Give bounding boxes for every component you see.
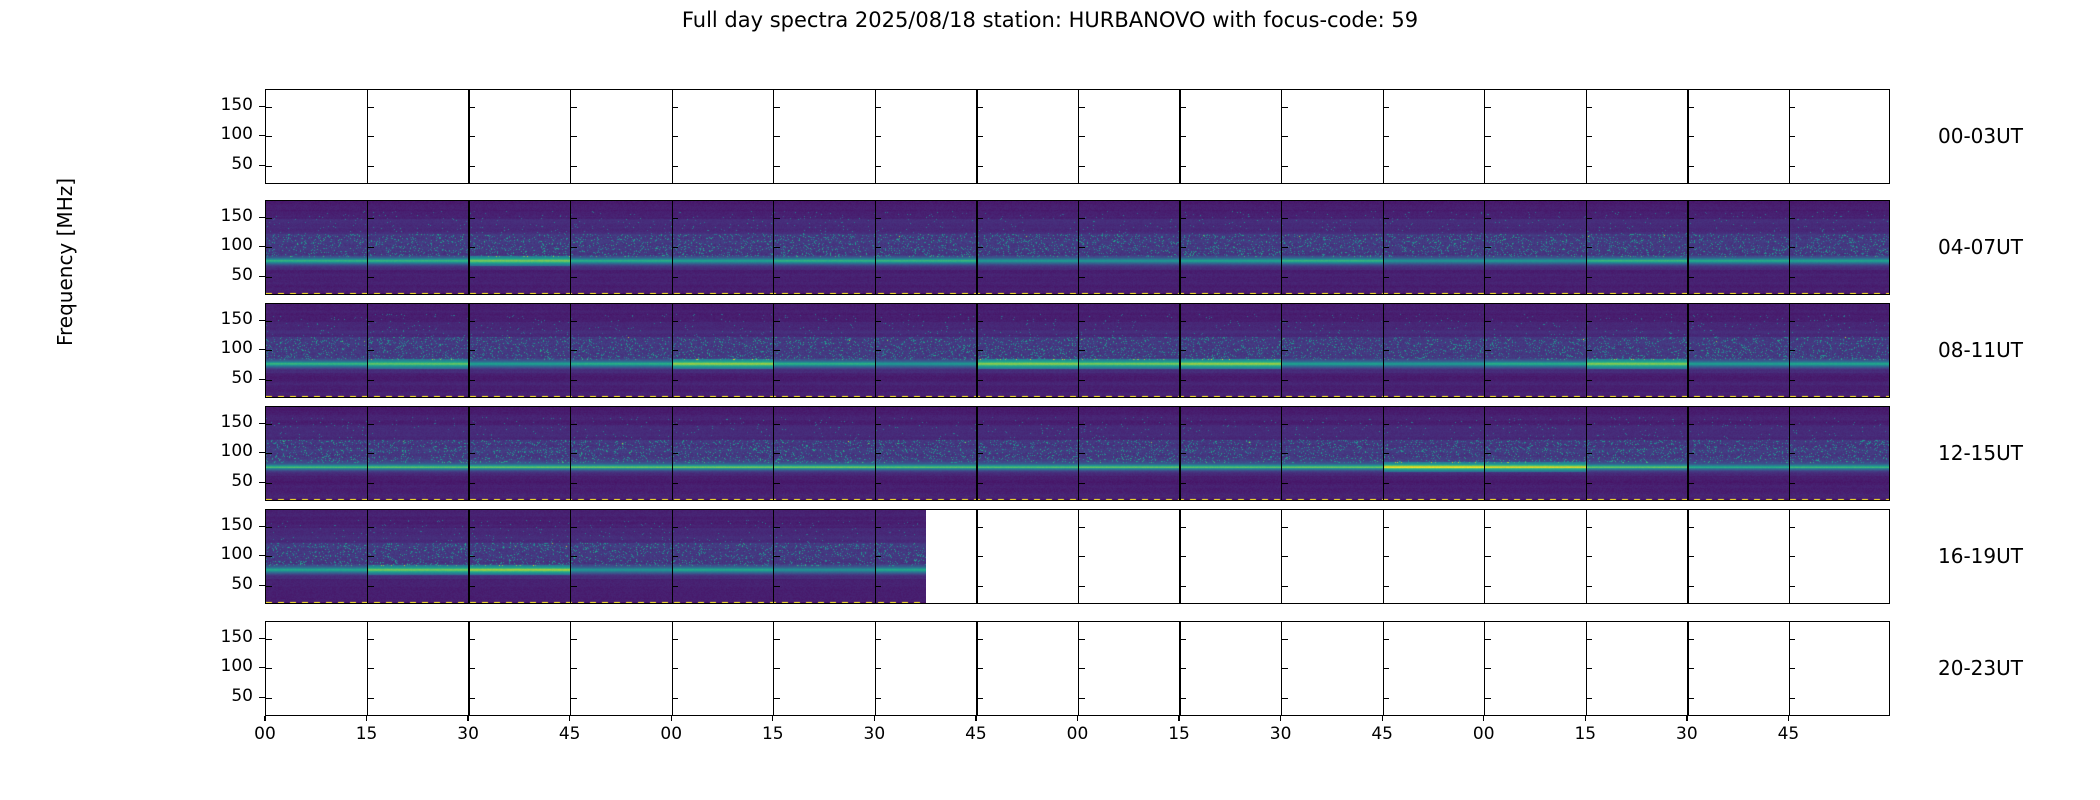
y-tick-mark bbox=[469, 277, 475, 278]
y-tick-mark bbox=[571, 698, 577, 699]
y-tick-mark bbox=[1586, 107, 1592, 108]
y-tick-mark bbox=[774, 247, 780, 248]
y-tick-mark bbox=[774, 483, 780, 484]
spectrogram-row-04-07ut bbox=[265, 200, 1890, 295]
y-tick-mark bbox=[774, 424, 780, 425]
y-tick-mark bbox=[571, 483, 577, 484]
y-tick-mark bbox=[469, 321, 475, 322]
y-tick-label: 150 bbox=[197, 515, 253, 535]
y-tick-mark bbox=[1485, 668, 1491, 669]
y-tick-mark bbox=[1688, 668, 1694, 669]
y-tick-mark bbox=[672, 350, 678, 351]
y-tick-mark bbox=[1586, 556, 1592, 557]
y-tick-mark bbox=[1789, 453, 1795, 454]
y-tick-mark bbox=[1383, 107, 1389, 108]
y-tick-mark bbox=[368, 527, 374, 528]
y-tick-mark bbox=[1180, 247, 1186, 248]
x-tick-mark bbox=[671, 716, 672, 721]
y-tick-mark bbox=[977, 453, 983, 454]
y-tick-mark bbox=[469, 698, 475, 699]
y-tick-mark bbox=[469, 136, 475, 137]
y-tick-mark-outer bbox=[259, 423, 265, 424]
y-tick-mark bbox=[672, 136, 678, 137]
y-tick-mark bbox=[571, 107, 577, 108]
y-tick-mark bbox=[875, 424, 881, 425]
y-tick-mark bbox=[1688, 527, 1694, 528]
y-tick-label: 100 bbox=[197, 124, 253, 144]
x-tick-label: 45 bbox=[1748, 724, 1828, 744]
y-tick-mark bbox=[977, 668, 983, 669]
y-tick-mark bbox=[1485, 350, 1491, 351]
spectra-figure: Full day spectra 2025/08/18 station: HUR… bbox=[0, 0, 2100, 800]
x-tick-mark bbox=[874, 716, 875, 721]
y-tick-mark bbox=[1789, 107, 1795, 108]
y-tick-mark bbox=[1079, 424, 1085, 425]
y-tick-mark bbox=[1180, 350, 1186, 351]
y-tick-mark bbox=[1079, 698, 1085, 699]
x-tick-label: 45 bbox=[1342, 724, 1422, 744]
y-tick-mark bbox=[1079, 350, 1085, 351]
y-tick-mark bbox=[1180, 527, 1186, 528]
y-tick-mark bbox=[1079, 586, 1085, 587]
y-tick-mark bbox=[672, 218, 678, 219]
y-tick-mark-outer bbox=[259, 585, 265, 586]
y-tick-mark bbox=[1079, 483, 1085, 484]
y-tick-mark bbox=[1789, 166, 1795, 167]
y-tick-mark bbox=[1383, 586, 1389, 587]
y-tick-mark bbox=[875, 247, 881, 248]
y-tick-mark bbox=[774, 380, 780, 381]
y-tick-mark bbox=[1485, 321, 1491, 322]
y-tick-mark bbox=[266, 107, 272, 108]
row-label-08-11ut: 08-11UT bbox=[1938, 338, 2023, 362]
x-tick-label: 30 bbox=[1241, 724, 1321, 744]
y-tick-mark bbox=[1688, 639, 1694, 640]
y-tick-mark bbox=[469, 247, 475, 248]
y-tick-mark bbox=[672, 668, 678, 669]
y-tick-mark bbox=[1485, 639, 1491, 640]
y-tick-mark bbox=[1485, 218, 1491, 219]
y-tick-mark bbox=[571, 166, 577, 167]
y-tick-mark bbox=[469, 107, 475, 108]
y-tick-mark bbox=[368, 247, 374, 248]
y-tick-mark bbox=[1180, 218, 1186, 219]
y-tick-mark bbox=[1586, 668, 1592, 669]
y-tick-mark bbox=[571, 136, 577, 137]
y-tick-mark bbox=[1688, 166, 1694, 167]
y-tick-label: 50 bbox=[197, 265, 253, 285]
y-tick-mark bbox=[368, 166, 374, 167]
y-tick-mark bbox=[1586, 483, 1592, 484]
y-tick-mark bbox=[1383, 668, 1389, 669]
y-tick-mark bbox=[1180, 380, 1186, 381]
y-tick-mark bbox=[469, 586, 475, 587]
x-tick-label: 45 bbox=[936, 724, 1016, 744]
y-tick-mark bbox=[1586, 350, 1592, 351]
y-tick-mark bbox=[1485, 586, 1491, 587]
spectrogram-row-08-11ut bbox=[265, 303, 1890, 398]
y-tick-mark bbox=[1688, 247, 1694, 248]
y-tick-mark bbox=[368, 277, 374, 278]
y-tick-mark bbox=[1789, 698, 1795, 699]
y-tick-mark bbox=[774, 218, 780, 219]
y-tick-mark bbox=[1688, 277, 1694, 278]
x-tick-mark bbox=[366, 716, 367, 721]
x-tick-label: 30 bbox=[834, 724, 914, 744]
y-tick-mark bbox=[672, 483, 678, 484]
x-tick-mark bbox=[1788, 716, 1789, 721]
y-tick-label: 50 bbox=[197, 154, 253, 174]
x-tick-mark bbox=[1178, 716, 1179, 721]
figure-title: Full day spectra 2025/08/18 station: HUR… bbox=[0, 8, 2100, 32]
y-tick-mark bbox=[1485, 166, 1491, 167]
y-tick-mark bbox=[672, 107, 678, 108]
row-label-20-23ut: 20-23UT bbox=[1938, 656, 2023, 680]
y-tick-mark bbox=[1485, 483, 1491, 484]
y-tick-mark bbox=[672, 247, 678, 248]
panel-frame bbox=[265, 406, 1890, 501]
panel-frame bbox=[265, 509, 1890, 604]
y-tick-mark-outer bbox=[259, 452, 265, 453]
y-tick-mark bbox=[774, 639, 780, 640]
y-tick-mark bbox=[1688, 350, 1694, 351]
panel-frame bbox=[265, 621, 1890, 716]
y-tick-mark bbox=[875, 350, 881, 351]
y-tick-mark bbox=[977, 218, 983, 219]
y-tick-mark bbox=[1789, 350, 1795, 351]
y-tick-mark bbox=[875, 483, 881, 484]
y-tick-mark-outer bbox=[259, 246, 265, 247]
y-tick-mark bbox=[1282, 698, 1288, 699]
y-tick-mark bbox=[1485, 380, 1491, 381]
y-tick-mark-outer bbox=[259, 349, 265, 350]
x-tick-mark bbox=[264, 716, 265, 721]
y-tick-mark bbox=[368, 483, 374, 484]
y-tick-mark-outer bbox=[259, 555, 265, 556]
y-tick-mark bbox=[1586, 380, 1592, 381]
y-tick-mark bbox=[266, 247, 272, 248]
y-tick-mark bbox=[774, 453, 780, 454]
panel-frame bbox=[265, 303, 1890, 398]
y-tick-label: 50 bbox=[197, 368, 253, 388]
y-tick-mark bbox=[368, 107, 374, 108]
y-tick-mark bbox=[1586, 639, 1592, 640]
y-tick-mark bbox=[1282, 453, 1288, 454]
y-tick-mark bbox=[266, 166, 272, 167]
y-tick-mark bbox=[1688, 218, 1694, 219]
y-tick-mark bbox=[1079, 639, 1085, 640]
y-tick-mark bbox=[1383, 424, 1389, 425]
y-tick-mark bbox=[1079, 247, 1085, 248]
row-label-16-19ut: 16-19UT bbox=[1938, 544, 2023, 568]
y-tick-mark bbox=[1586, 453, 1592, 454]
y-tick-mark-outer bbox=[259, 638, 265, 639]
y-tick-mark bbox=[266, 277, 272, 278]
y-tick-mark bbox=[1789, 556, 1795, 557]
y-tick-mark bbox=[774, 668, 780, 669]
y-tick-label: 50 bbox=[197, 471, 253, 491]
y-tick-mark bbox=[1383, 527, 1389, 528]
y-tick-label: 50 bbox=[197, 574, 253, 594]
y-tick-mark bbox=[1586, 277, 1592, 278]
y-tick-mark bbox=[1079, 527, 1085, 528]
y-tick-label: 150 bbox=[197, 206, 253, 226]
y-tick-mark bbox=[469, 556, 475, 557]
x-tick-mark bbox=[569, 716, 570, 721]
y-tick-mark bbox=[1586, 424, 1592, 425]
y-tick-mark bbox=[875, 639, 881, 640]
y-tick-mark bbox=[368, 668, 374, 669]
y-tick-mark bbox=[1079, 277, 1085, 278]
y-tick-mark bbox=[1079, 321, 1085, 322]
x-tick-label: 15 bbox=[327, 724, 407, 744]
x-tick-label: 30 bbox=[428, 724, 508, 744]
y-tick-mark bbox=[875, 453, 881, 454]
y-tick-mark bbox=[774, 107, 780, 108]
y-tick-mark bbox=[774, 166, 780, 167]
y-tick-mark bbox=[368, 639, 374, 640]
y-tick-mark bbox=[571, 668, 577, 669]
y-tick-mark bbox=[571, 247, 577, 248]
x-tick-mark bbox=[1280, 716, 1281, 721]
y-tick-mark bbox=[1282, 277, 1288, 278]
y-tick-mark bbox=[1485, 107, 1491, 108]
y-tick-mark bbox=[571, 277, 577, 278]
y-tick-mark bbox=[875, 586, 881, 587]
y-tick-mark bbox=[774, 527, 780, 528]
y-tick-mark bbox=[875, 107, 881, 108]
y-tick-mark bbox=[266, 218, 272, 219]
y-tick-mark bbox=[1180, 277, 1186, 278]
y-tick-mark bbox=[1180, 483, 1186, 484]
y-tick-label: 150 bbox=[197, 412, 253, 432]
y-tick-mark bbox=[672, 639, 678, 640]
y-tick-mark bbox=[672, 166, 678, 167]
y-tick-mark bbox=[1180, 321, 1186, 322]
panel-frame bbox=[265, 89, 1890, 184]
y-tick-mark bbox=[1282, 321, 1288, 322]
y-tick-mark bbox=[977, 136, 983, 137]
y-tick-mark bbox=[774, 321, 780, 322]
y-tick-mark bbox=[266, 556, 272, 557]
y-tick-mark bbox=[672, 380, 678, 381]
y-tick-mark bbox=[875, 698, 881, 699]
y-tick-mark bbox=[571, 424, 577, 425]
x-tick-label: 15 bbox=[733, 724, 813, 744]
y-tick-mark bbox=[1485, 277, 1491, 278]
y-tick-mark bbox=[368, 218, 374, 219]
y-tick-mark bbox=[571, 556, 577, 557]
y-tick-mark bbox=[774, 586, 780, 587]
y-tick-mark bbox=[1383, 277, 1389, 278]
y-tick-mark bbox=[469, 527, 475, 528]
y-tick-mark bbox=[571, 321, 577, 322]
y-tick-mark bbox=[266, 136, 272, 137]
y-tick-mark bbox=[1079, 107, 1085, 108]
y-tick-mark bbox=[266, 380, 272, 381]
y-tick-mark bbox=[672, 321, 678, 322]
y-tick-mark bbox=[1688, 556, 1694, 557]
y-tick-mark bbox=[875, 668, 881, 669]
y-tick-mark bbox=[977, 350, 983, 351]
y-tick-mark bbox=[1079, 380, 1085, 381]
x-tick-label: 30 bbox=[1647, 724, 1727, 744]
y-tick-mark bbox=[672, 453, 678, 454]
y-tick-mark bbox=[1688, 380, 1694, 381]
x-tick-label: 15 bbox=[1139, 724, 1219, 744]
spectrogram-row-16-19ut bbox=[265, 509, 1890, 604]
y-tick-mark bbox=[266, 527, 272, 528]
y-tick-mark bbox=[1789, 277, 1795, 278]
y-tick-mark-outer bbox=[259, 217, 265, 218]
y-tick-mark bbox=[1383, 698, 1389, 699]
y-tick-mark bbox=[1383, 483, 1389, 484]
y-tick-mark bbox=[1485, 556, 1491, 557]
y-tick-label: 100 bbox=[197, 656, 253, 676]
x-tick-mark bbox=[1686, 716, 1687, 721]
y-tick-mark bbox=[1282, 424, 1288, 425]
x-tick-label: 00 bbox=[1444, 724, 1524, 744]
spectrogram-row-20-23ut bbox=[265, 621, 1890, 716]
y-tick-mark bbox=[1180, 586, 1186, 587]
y-tick-mark bbox=[1383, 136, 1389, 137]
y-tick-mark bbox=[672, 586, 678, 587]
x-tick-mark bbox=[467, 716, 468, 721]
y-tick-mark bbox=[1586, 136, 1592, 137]
y-axis-label: Frequency [MHz] bbox=[53, 142, 77, 382]
y-tick-mark bbox=[1383, 166, 1389, 167]
y-tick-mark bbox=[672, 698, 678, 699]
y-tick-mark bbox=[1180, 668, 1186, 669]
y-tick-mark-outer bbox=[259, 135, 265, 136]
y-tick-mark bbox=[266, 668, 272, 669]
x-tick-mark bbox=[1483, 716, 1484, 721]
y-tick-mark bbox=[266, 586, 272, 587]
y-tick-mark bbox=[1383, 639, 1389, 640]
y-tick-mark bbox=[875, 277, 881, 278]
y-tick-label: 150 bbox=[197, 95, 253, 115]
y-tick-mark bbox=[1688, 698, 1694, 699]
x-tick-mark bbox=[1585, 716, 1586, 721]
y-tick-mark bbox=[1485, 424, 1491, 425]
y-tick-mark bbox=[1485, 453, 1491, 454]
y-tick-label: 150 bbox=[197, 627, 253, 647]
y-tick-mark bbox=[571, 380, 577, 381]
y-tick-mark bbox=[1383, 453, 1389, 454]
y-tick-mark bbox=[1079, 218, 1085, 219]
y-tick-mark bbox=[368, 698, 374, 699]
y-tick-mark bbox=[1383, 321, 1389, 322]
y-tick-mark-outer bbox=[259, 667, 265, 668]
y-tick-mark bbox=[1688, 586, 1694, 587]
y-tick-mark bbox=[1282, 218, 1288, 219]
y-tick-mark bbox=[1789, 424, 1795, 425]
y-tick-mark bbox=[977, 247, 983, 248]
y-tick-mark bbox=[672, 424, 678, 425]
y-tick-mark bbox=[469, 483, 475, 484]
y-tick-mark bbox=[1180, 556, 1186, 557]
y-tick-mark bbox=[1079, 453, 1085, 454]
spectrogram-row-12-15ut bbox=[265, 406, 1890, 501]
y-tick-mark bbox=[368, 380, 374, 381]
y-tick-mark bbox=[266, 483, 272, 484]
y-tick-mark bbox=[1485, 136, 1491, 137]
spectrogram-row-00-03ut bbox=[265, 89, 1890, 184]
y-tick-mark bbox=[1383, 218, 1389, 219]
x-tick-label: 00 bbox=[1038, 724, 1118, 744]
y-tick-label: 100 bbox=[197, 544, 253, 564]
y-tick-label: 100 bbox=[197, 338, 253, 358]
y-tick-mark bbox=[1282, 586, 1288, 587]
y-tick-mark bbox=[1079, 556, 1085, 557]
y-tick-mark bbox=[266, 698, 272, 699]
y-tick-mark bbox=[368, 136, 374, 137]
y-tick-mark bbox=[469, 166, 475, 167]
y-tick-mark bbox=[875, 380, 881, 381]
y-tick-mark bbox=[368, 424, 374, 425]
y-tick-mark bbox=[977, 166, 983, 167]
y-tick-mark bbox=[774, 136, 780, 137]
y-tick-mark bbox=[571, 639, 577, 640]
y-tick-mark bbox=[1180, 136, 1186, 137]
y-tick-mark bbox=[1383, 380, 1389, 381]
y-tick-mark bbox=[1383, 350, 1389, 351]
y-tick-mark bbox=[368, 453, 374, 454]
y-tick-mark bbox=[1282, 380, 1288, 381]
y-tick-mark bbox=[1688, 107, 1694, 108]
y-tick-mark bbox=[1282, 639, 1288, 640]
y-tick-mark bbox=[571, 586, 577, 587]
y-tick-mark bbox=[266, 453, 272, 454]
y-tick-mark bbox=[977, 586, 983, 587]
y-tick-mark bbox=[1586, 698, 1592, 699]
y-tick-mark bbox=[1789, 483, 1795, 484]
y-tick-mark-outer bbox=[259, 165, 265, 166]
y-tick-mark bbox=[1282, 166, 1288, 167]
y-tick-mark bbox=[469, 424, 475, 425]
y-tick-mark bbox=[1485, 527, 1491, 528]
y-tick-label: 100 bbox=[197, 441, 253, 461]
y-tick-mark bbox=[1180, 424, 1186, 425]
y-tick-mark bbox=[266, 424, 272, 425]
y-tick-mark bbox=[571, 218, 577, 219]
y-tick-mark bbox=[469, 668, 475, 669]
y-tick-mark bbox=[977, 277, 983, 278]
y-tick-mark bbox=[672, 527, 678, 528]
row-label-12-15ut: 12-15UT bbox=[1938, 441, 2023, 465]
y-tick-mark bbox=[1282, 107, 1288, 108]
y-tick-mark bbox=[977, 321, 983, 322]
y-tick-mark bbox=[1282, 350, 1288, 351]
y-tick-mark bbox=[875, 527, 881, 528]
y-tick-mark bbox=[1789, 639, 1795, 640]
y-tick-mark bbox=[1586, 321, 1592, 322]
y-tick-mark bbox=[469, 453, 475, 454]
y-tick-mark bbox=[1180, 107, 1186, 108]
y-tick-mark bbox=[1282, 136, 1288, 137]
y-tick-mark bbox=[1789, 380, 1795, 381]
panel-frame bbox=[265, 200, 1890, 295]
y-tick-mark bbox=[875, 556, 881, 557]
y-tick-mark bbox=[1789, 247, 1795, 248]
y-tick-mark bbox=[977, 556, 983, 557]
row-label-00-03ut: 00-03UT bbox=[1938, 124, 2023, 148]
y-tick-mark bbox=[469, 218, 475, 219]
y-tick-mark bbox=[266, 321, 272, 322]
x-tick-mark bbox=[1077, 716, 1078, 721]
y-tick-mark bbox=[1485, 247, 1491, 248]
y-tick-mark bbox=[977, 424, 983, 425]
